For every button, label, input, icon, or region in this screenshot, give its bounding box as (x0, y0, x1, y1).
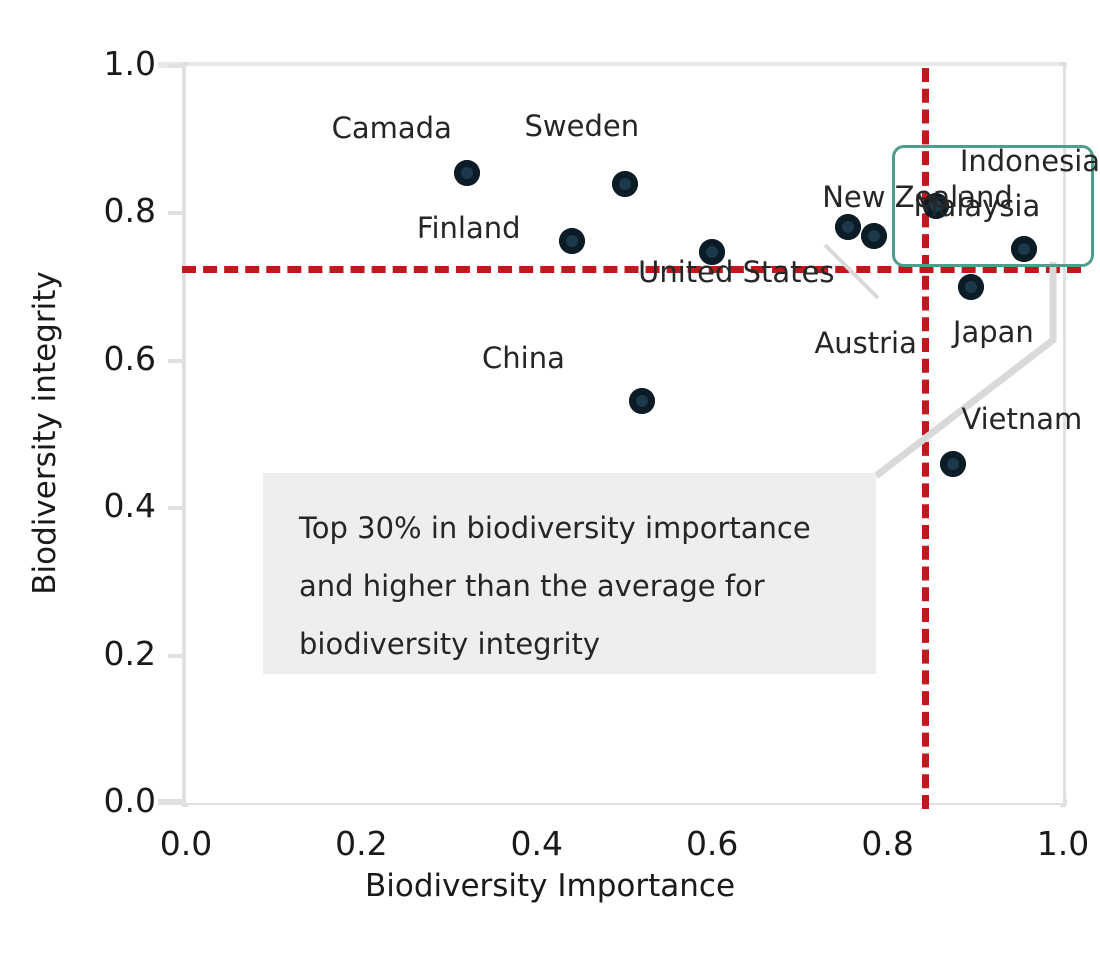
x-tick-label: 0.2 (335, 824, 387, 863)
data-point-marker (958, 274, 984, 300)
y-tick-mark (168, 211, 184, 215)
x-tick-label: 1.0 (1037, 824, 1089, 863)
annotation-line-1: Top 30% in biodiversity importance (299, 499, 840, 557)
point-label-vietnam: Vietnam (961, 402, 1082, 436)
x-tick-label: 0.4 (511, 824, 563, 863)
scatter-chart: 0.00.20.40.60.81.0 0.00.20.40.60.81.0 Ca… (0, 0, 1100, 960)
data-point-marker (612, 171, 638, 197)
y-tick-mark (168, 506, 184, 510)
y-axis-title: Biodiversity integrity (27, 113, 63, 753)
x-axis-title: Biodiversity Importance (0, 868, 1100, 904)
point-label-finland: Finland (417, 211, 521, 245)
data-point-marker (454, 160, 480, 186)
point-label-austria: Austria (814, 326, 916, 360)
point-label-japan: Japan (953, 315, 1034, 349)
x-tick-label: 0.6 (686, 824, 738, 863)
annotation-line-3: biodiversity integrity (299, 615, 840, 673)
point-label-malaysia: Malaysia (914, 189, 1041, 223)
y-tick-mark (168, 801, 184, 805)
point-label-china: China (482, 341, 565, 375)
y-tick-label: 1.0 (36, 44, 156, 83)
data-point-marker (861, 223, 887, 249)
y-tick-mark (168, 359, 184, 363)
point-label-sweden: Sweden (525, 109, 640, 143)
data-point-marker (559, 228, 585, 254)
y-tick-mark (168, 654, 184, 658)
y-tick-mark (168, 64, 184, 68)
point-label-united-states: United States (638, 255, 834, 289)
point-label-indonesia: Indonesia (960, 144, 1100, 178)
x-tick-label: 0.8 (861, 824, 913, 863)
data-point-marker (835, 214, 861, 240)
y-tick-label: 0.0 (36, 781, 156, 820)
annotation-line-2: and higher than the average for (299, 557, 840, 615)
x-tick-label: 0.0 (160, 824, 212, 863)
point-label-camada: Camada (332, 111, 452, 145)
annotation-box: Top 30% in biodiversity importance and h… (263, 473, 876, 674)
data-point-marker (1011, 236, 1037, 262)
